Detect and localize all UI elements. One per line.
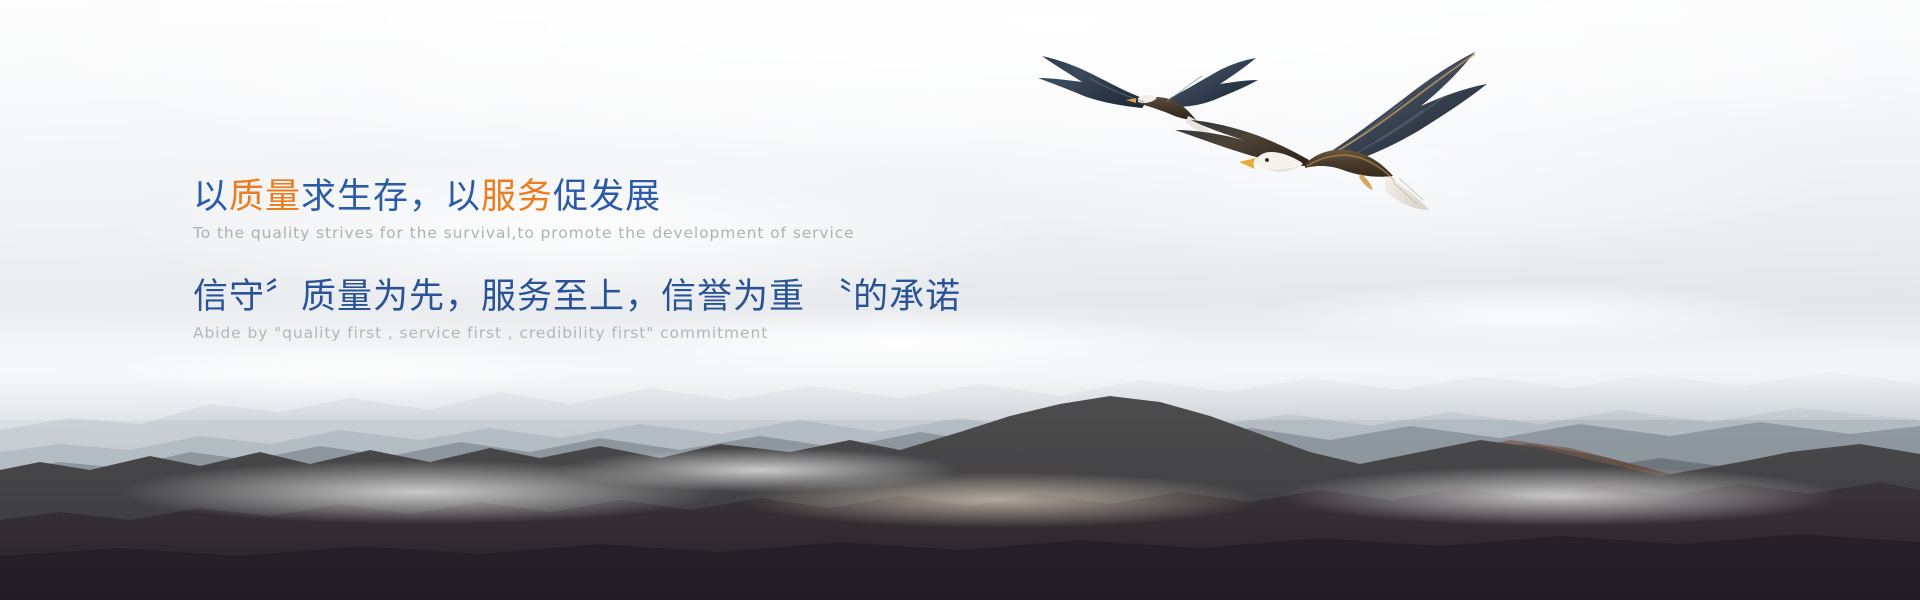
headline-secondary: 信守〞质量为先，服务至上，信誉为重 〝的承诺 [193, 276, 1193, 318]
headline-1-seg-2: 求生存，以 [301, 177, 481, 217]
subtitle-primary: To the quality strives for the survival,… [193, 222, 1193, 244]
headline-1-seg-0: 以 [193, 177, 229, 217]
headline-1-seg-1-highlight: 质量 [229, 177, 301, 217]
eagle-soaring-icon-large [1155, 38, 1495, 248]
slogan-text-block: 以质量求生存，以服务促发展 To the quality strives for… [193, 176, 1193, 344]
headline-primary: 以质量求生存，以服务促发展 [193, 176, 1193, 218]
subtitle-secondary: Abide by "quality first , service first … [193, 322, 1193, 344]
headline-secondary-wrap: 信守〞质量为先，服务至上，信誉为重 〝的承诺 Abide by "quality… [193, 276, 1193, 344]
headline-1-seg-4: 促发展 [553, 177, 661, 217]
hero-banner: 以质量求生存，以服务促发展 To the quality strives for… [0, 0, 1920, 600]
headline-1-seg-3-highlight: 服务 [481, 177, 553, 217]
